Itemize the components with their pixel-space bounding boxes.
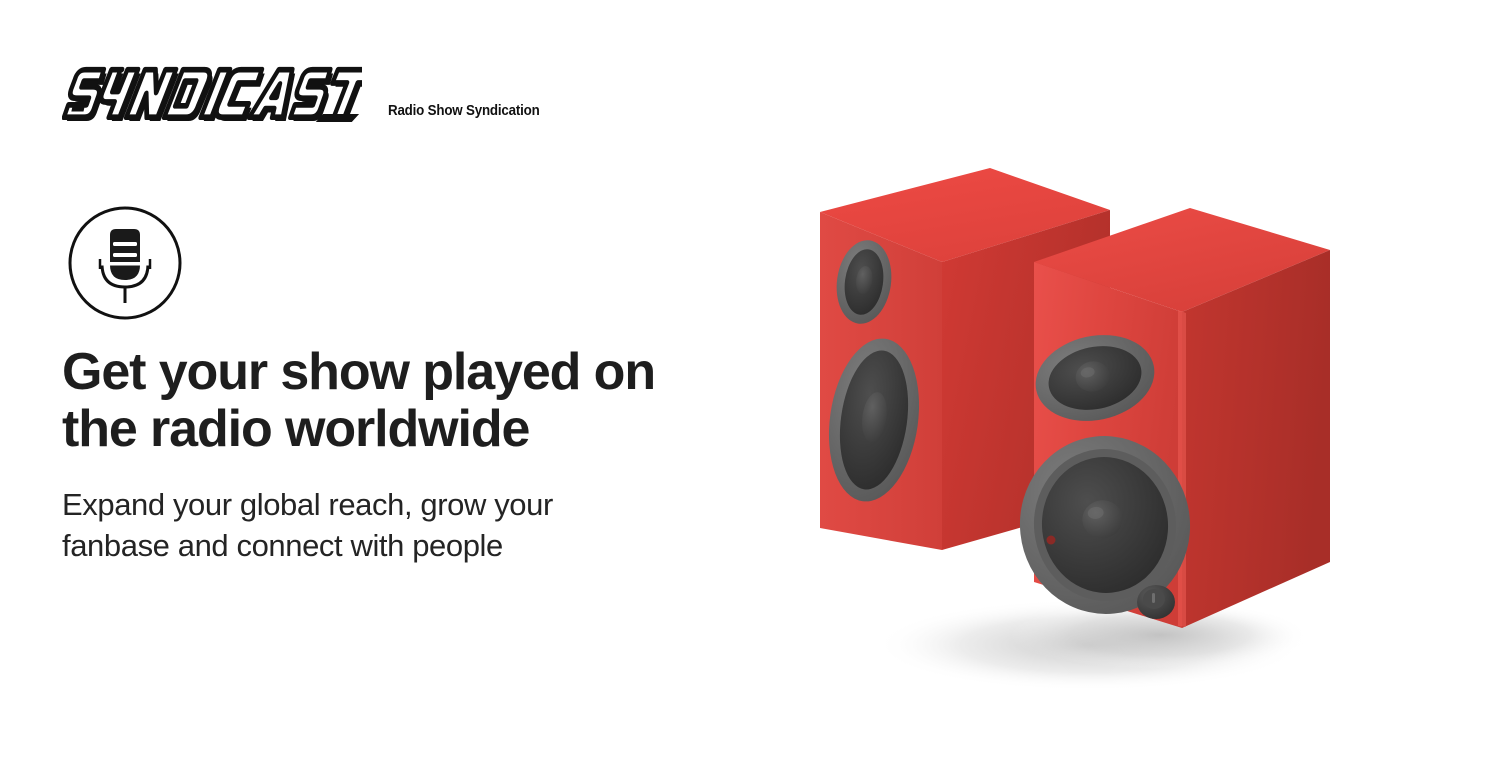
headline-line-2: the radio worldwide [62, 400, 529, 458]
hero-copy: Get your show played on the radio worldw… [62, 344, 702, 566]
page-title: Get your show played on the radio worldw… [62, 344, 702, 457]
syndicast-logo[interactable] [62, 62, 362, 128]
microphone-icon [66, 204, 184, 322]
speakers-image [790, 150, 1430, 730]
hero-subheading: Expand your global reach, grow your fanb… [62, 485, 702, 566]
subhead-line-1: Expand your global reach, grow your [62, 487, 553, 522]
brand-tagline: Radio Show Syndication [388, 103, 540, 128]
power-led [1047, 536, 1056, 545]
brand-lockup[interactable]: Radio Show Syndication [62, 62, 553, 128]
subhead-line-2: fanbase and connect with people [62, 528, 503, 563]
microphone-badge [66, 204, 184, 322]
logo-underscore-mark [316, 114, 359, 122]
volume-knob[interactable] [1137, 585, 1175, 619]
headline-line-1: Get your show played on [62, 343, 655, 401]
hero-section: Radio Show Syndication Get your show pla… [0, 0, 1487, 781]
speaker-front [1011, 208, 1330, 628]
